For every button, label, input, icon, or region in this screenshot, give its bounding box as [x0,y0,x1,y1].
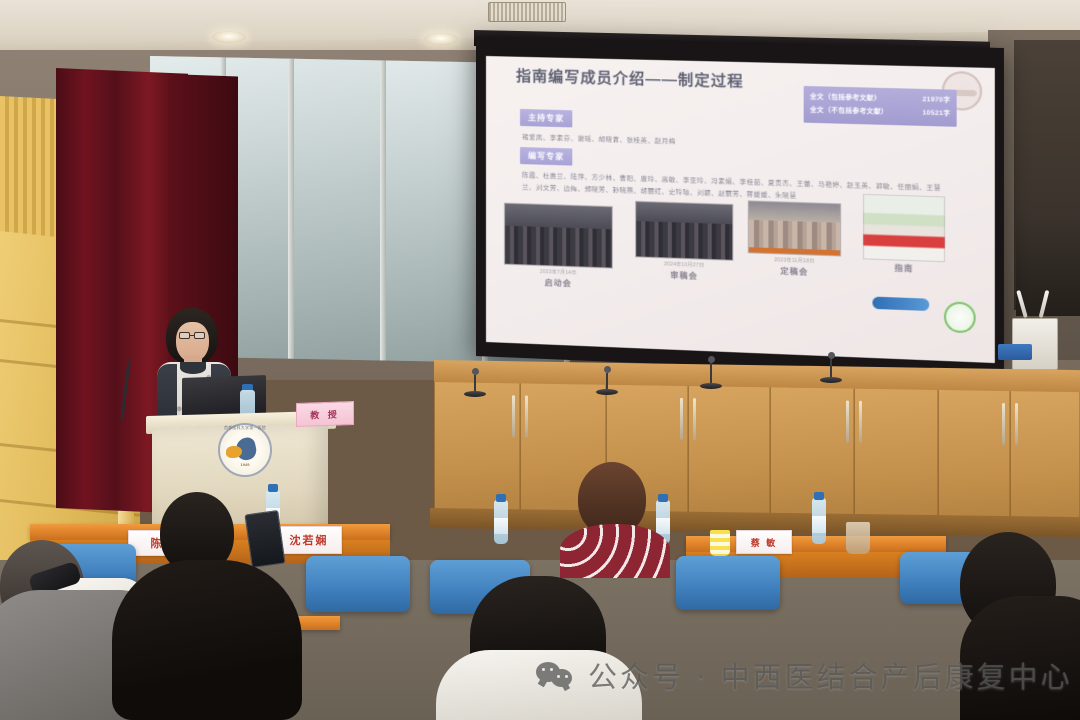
side-display-panel [1016,212,1080,316]
slide-thumbnail-item: 2023年11月18日 定稿会 [748,200,841,279]
watermark: 公众号 · 中西医结合产后康复中心 [536,654,1073,696]
slide-section-label-writing-experts: 编写专家 [520,147,572,166]
emblem-text: 首都医科大学第一医院 [224,425,266,431]
thumbnail-caption: 启动会 [504,276,613,291]
speaker-collar [180,362,206,374]
air-vent-icon [488,2,566,22]
name-card-text: 蔡 敏 [751,536,778,549]
podium-name-card: 教 授 [296,401,354,427]
watermark-text: 公众号 · 中西医结合产后康复中心 [588,654,1073,696]
cabinet-door[interactable] [854,389,938,530]
drink-cup [846,522,870,554]
podium-name-card-text: 教 授 [310,407,340,421]
paper-cup [710,530,730,556]
slide-thumbnail-item: 指南 [856,194,953,276]
eyeglasses-icon [194,332,205,339]
microphone [464,368,486,397]
stat-label: 全文（不包括参考文献） [810,103,888,118]
slide-thumbnail-item: 2023年7月14日 启动会 [504,203,613,291]
audience-chair[interactable] [676,556,780,610]
slide-decoration-pill [872,297,929,311]
microphone [820,352,842,383]
slide-host-expert-names: 褚爱凤、李素芬、谢瑶、胡晓青、张桂英、赵月梅 [522,131,676,145]
bottle-cap [814,492,824,500]
cabinet-door[interactable] [938,390,1010,531]
bottle-cap [496,494,506,502]
thumbnail-document [863,194,945,262]
thumbnail-photo [748,200,841,256]
cabinet-door[interactable] [688,386,770,527]
eyeglasses-bridge [190,335,195,336]
qr-code-badge-icon [944,301,976,333]
audience-head [112,560,302,720]
thumbnail-caption: 定稿会 [748,264,841,279]
slide-thumbnail-item: 2024年10月27日 审稿会 [635,201,733,283]
water-bottle [812,498,826,544]
audience-shoulders [560,524,670,578]
slide-section-label-host-experts: 主持专家 [520,109,572,127]
audience-chair[interactable] [306,556,410,612]
bottle-cap [268,484,278,492]
ceiling-downlight [424,33,458,45]
slide-stat-box: 全文（包括参考文献） 21970字 全文（不包括参考文献） 10521字 [804,86,957,127]
wechat-icon [536,660,576,690]
presentation-slide: 指南编写成员介绍——制定过程 全文（包括参考文献） 21970字 全文（不包括参… [486,56,995,363]
lecture-hall-photo: 指南编写成员介绍——制定过程 全文（包括参考文献） 21970字 全文（不包括参… [0,0,1080,720]
thumbnail-caption: 审稿会 [635,268,733,283]
bottle-cap [658,494,668,502]
name-card: 沈若娴 [276,526,342,554]
microphone [596,366,618,395]
stat-value: 21970字 [922,93,950,107]
smartphone[interactable] [244,510,285,568]
wireless-access-point-indicator [998,344,1032,360]
stat-row: 全文（不包括参考文献） 10521字 [810,103,950,120]
thumbnail-photo [504,203,613,269]
cabinet-door[interactable] [1010,391,1080,532]
stat-value: 10521字 [922,106,950,120]
thumbnail-photo [635,201,733,261]
thumbnail-caption: 指南 [856,261,953,276]
name-card: 蔡 敏 [736,530,792,554]
name-card-text: 沈若娴 [290,532,329,548]
ceiling-downlight [212,31,246,43]
slide-title: 指南编写成员介绍——制定过程 [516,65,744,92]
water-bottle [494,500,508,544]
emblem-year: 1949 [230,462,260,467]
microphone [700,356,722,389]
eyeglasses-icon [179,332,190,339]
